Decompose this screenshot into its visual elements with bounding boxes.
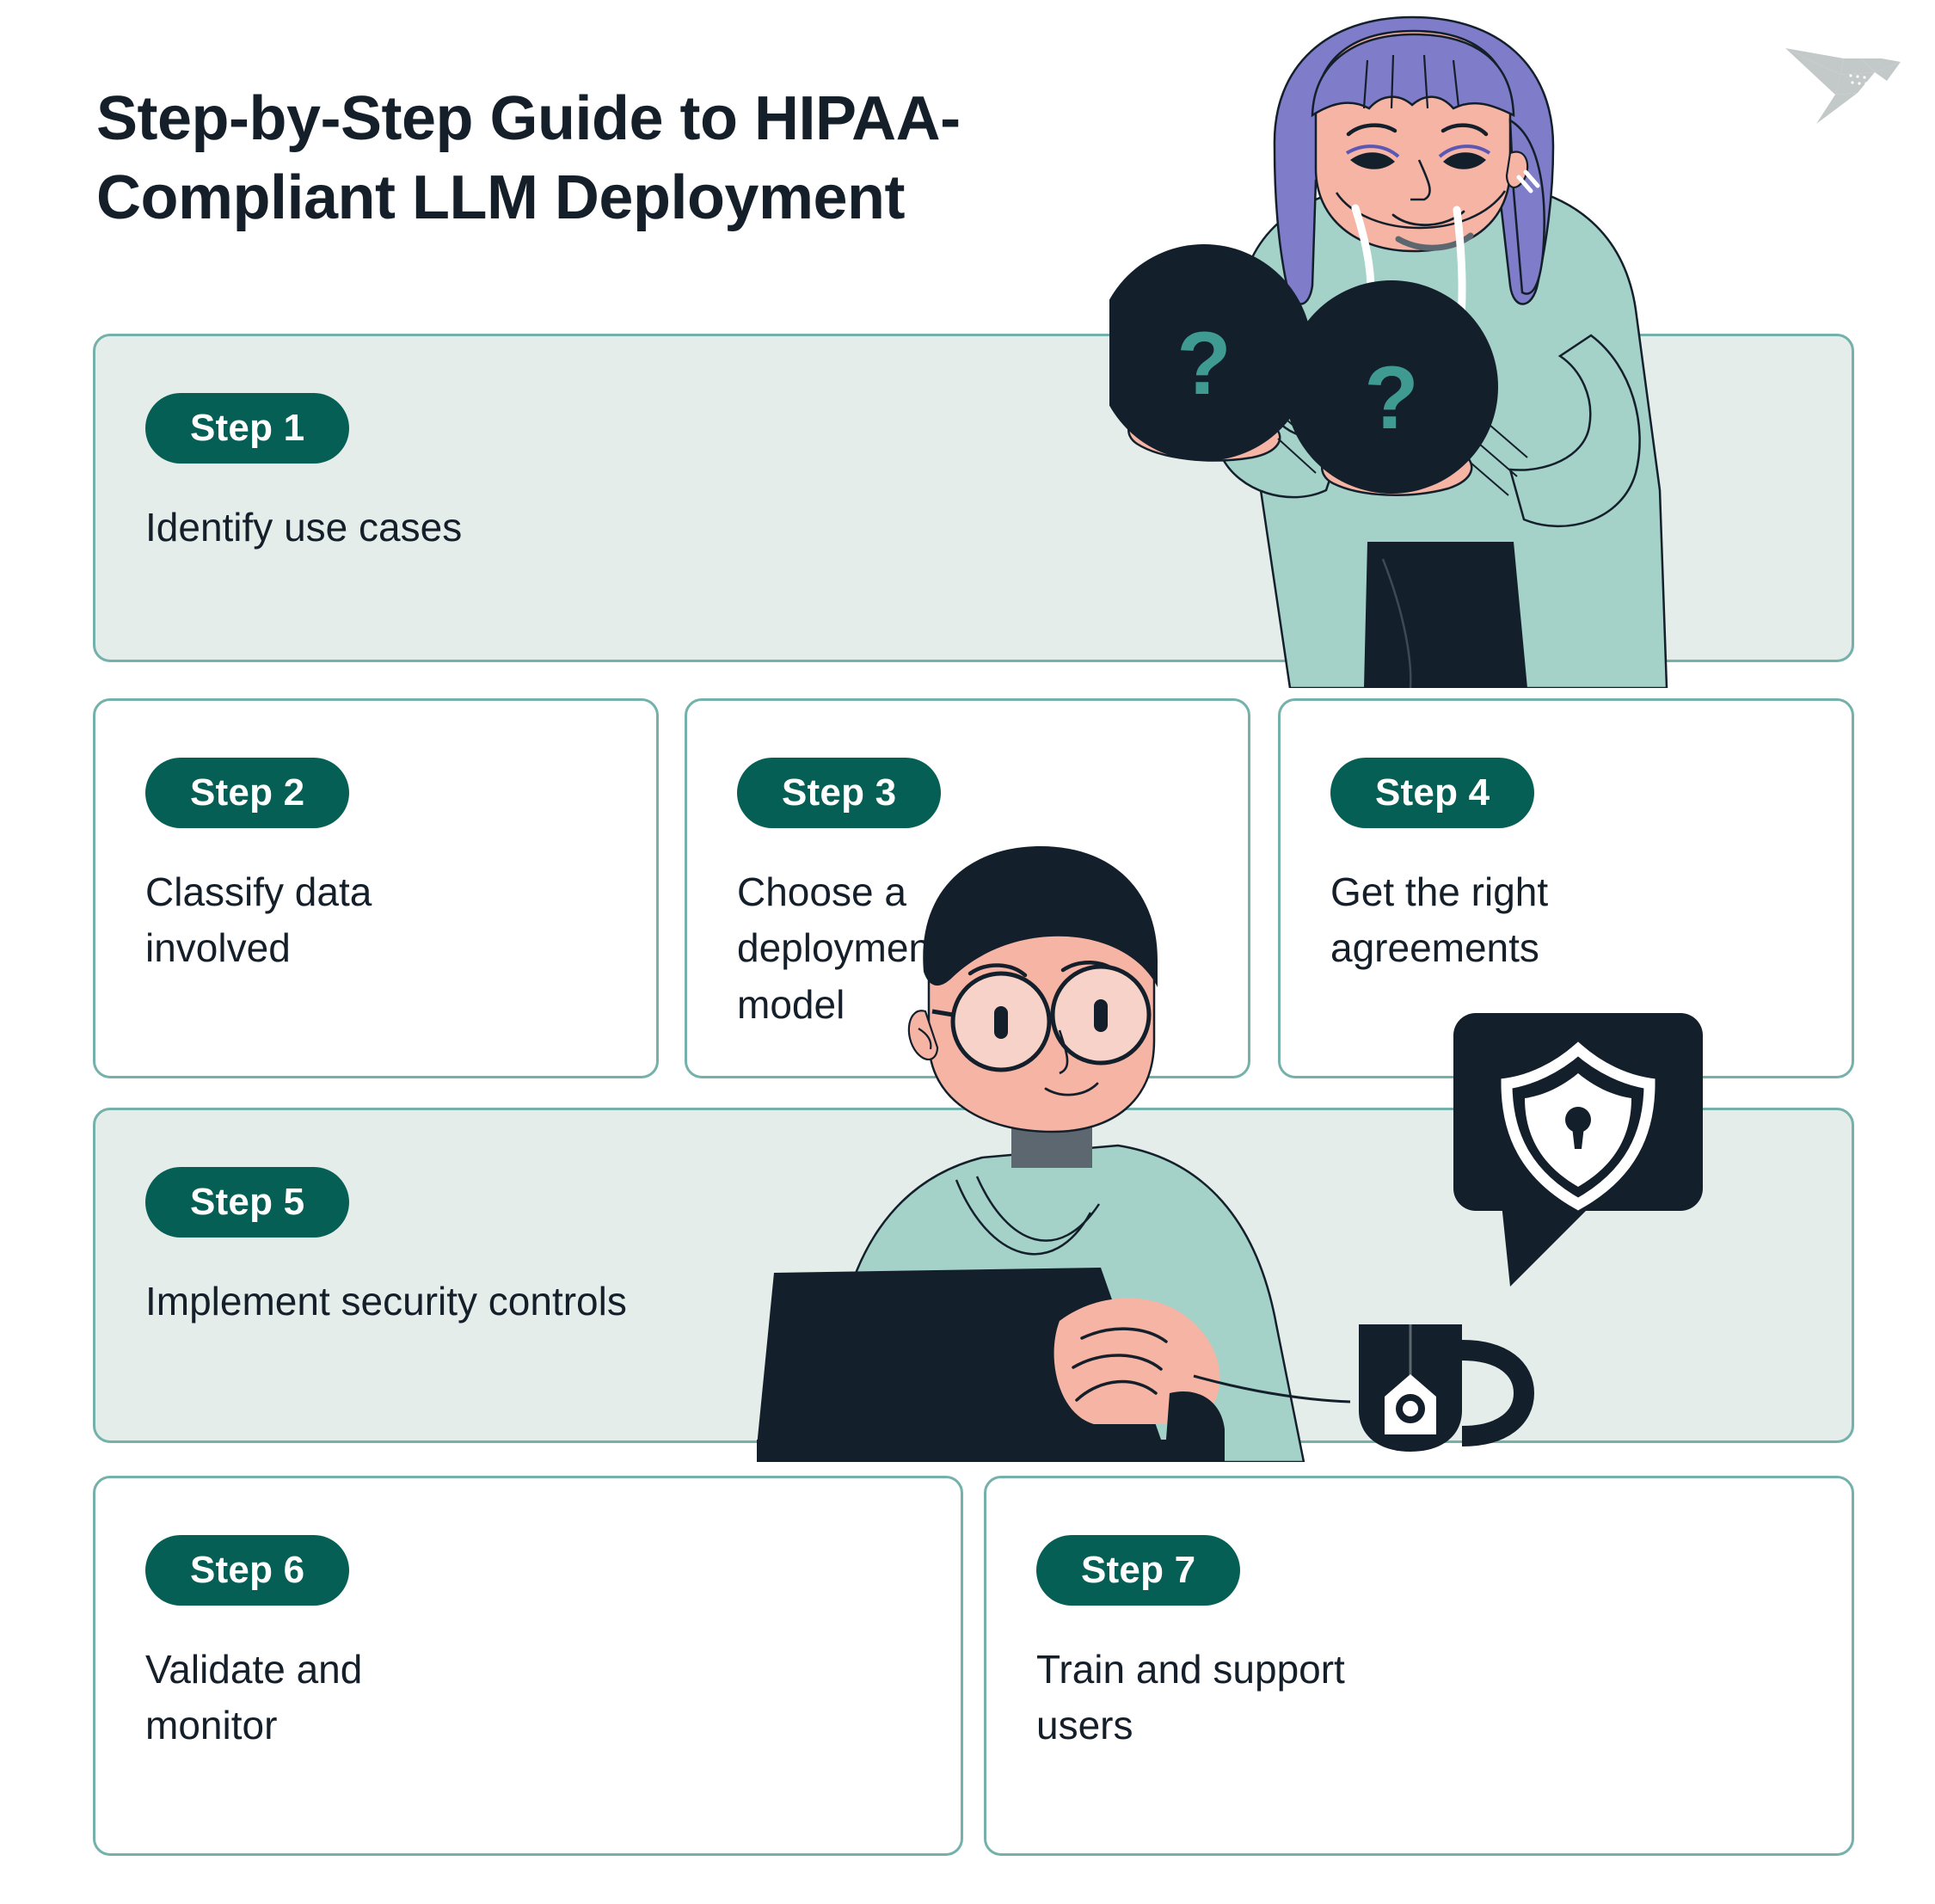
step-card-5[interactable]: Step 5 Implement security controls	[93, 1108, 1854, 1443]
step-description-1: Identify use cases	[145, 500, 1091, 556]
step-badge-6: Step 6	[145, 1535, 349, 1606]
step-badge-1: Step 1	[145, 393, 349, 464]
step-card-6[interactable]: Step 6 Validate and monitor	[93, 1476, 963, 1856]
origami-bird-logo	[1778, 28, 1907, 131]
step-badge-5: Step 5	[145, 1167, 349, 1238]
step-badge-7: Step 7	[1036, 1535, 1240, 1606]
step-description-7: Train and support users	[1036, 1642, 1449, 1754]
step-badge-2: Step 2	[145, 758, 349, 828]
step-card-4[interactable]: Step 4 Get the right agreements	[1278, 698, 1854, 1078]
step-description-3: Choose a deployment model	[737, 864, 1150, 1033]
step-description-4: Get the right agreements	[1330, 864, 1743, 977]
step-card-2[interactable]: Step 2 Classify data involved	[93, 698, 659, 1078]
infographic-root: Step-by-Step Guide to HIPAA- Compliant L…	[0, 0, 1935, 1904]
step-description-5: Implement security controls	[145, 1274, 1091, 1330]
step-card-7[interactable]: Step 7 Train and support users	[984, 1476, 1854, 1856]
page-title: Step-by-Step Guide to HIPAA- Compliant L…	[96, 79, 1266, 237]
step-badge-3: Step 3	[737, 758, 941, 828]
step-card-3[interactable]: Step 3 Choose a deployment model	[685, 698, 1250, 1078]
step-card-1[interactable]: Step 1 Identify use cases	[93, 334, 1854, 662]
step-badge-4: Step 4	[1330, 758, 1534, 828]
step-description-6: Validate and monitor	[145, 1642, 558, 1754]
step-description-2: Classify data involved	[145, 864, 558, 977]
